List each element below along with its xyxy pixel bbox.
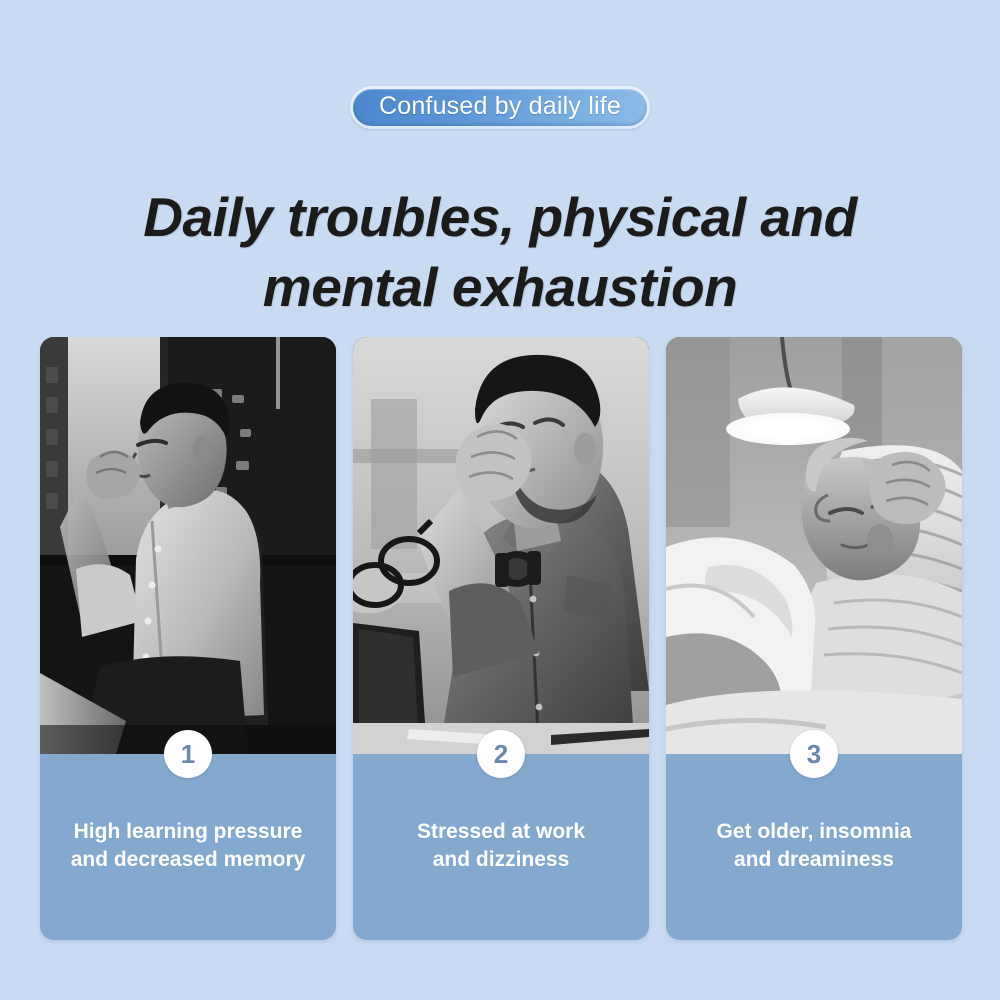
- card-2-caption-text: Stressed at work and dizziness: [353, 818, 649, 873]
- card-1-caption-text: High learning pressure and decreased mem…: [40, 818, 336, 873]
- tagline-badge-wrap: Confused by daily life: [0, 86, 1000, 129]
- card-2-caption-line-1: Stressed at work: [417, 820, 585, 843]
- card-1-caption-line-2: and decreased memory: [71, 848, 306, 871]
- page-title-line-2: mental exhaustion: [0, 252, 1000, 322]
- card-2-caption-line-2: and dizziness: [433, 848, 570, 871]
- cards-row: 1 High learning pressure and decreased m…: [40, 337, 962, 940]
- card-3-caption-line-2: and dreaminess: [734, 848, 894, 871]
- promo-infographic-page: { "page": { "background_color": "#c8dbf2…: [0, 0, 1000, 1000]
- page-title: Daily troubles, physical and mental exha…: [0, 182, 1000, 323]
- card-3-number-badge: 3: [790, 730, 838, 778]
- tagline-badge: Confused by daily life: [353, 89, 647, 126]
- card-2-number-badge: 2: [477, 730, 525, 778]
- card-1-photo: [40, 337, 336, 754]
- card-3-caption-panel: Get older, insomnia and dreaminess: [666, 754, 962, 940]
- card-3[interactable]: 3 Get older, insomnia and dreaminess: [666, 337, 962, 940]
- page-title-line-1: Daily troubles, physical and: [0, 182, 1000, 252]
- card-2-photo: [353, 337, 649, 754]
- older-man-insomnia-bed-image: [666, 337, 962, 754]
- card-1[interactable]: 1 High learning pressure and decreased m…: [40, 337, 336, 940]
- card-2[interactable]: 2 Stressed at work and dizziness: [353, 337, 649, 940]
- card-3-photo: [666, 337, 962, 754]
- man-rubbing-eyes-window-image: [40, 337, 336, 754]
- card-2-caption-panel: Stressed at work and dizziness: [353, 754, 649, 940]
- stressed-man-laptop-image: [353, 337, 649, 754]
- card-1-number-badge: 1: [164, 730, 212, 778]
- card-1-caption-line-1: High learning pressure: [74, 820, 303, 843]
- card-3-caption-line-1: Get older, insomnia: [717, 820, 912, 843]
- tagline-badge-label: Confused by daily life: [379, 92, 621, 120]
- card-1-caption-panel: High learning pressure and decreased mem…: [40, 754, 336, 940]
- tagline-badge-outer: Confused by daily life: [350, 86, 650, 129]
- card-3-caption-text: Get older, insomnia and dreaminess: [666, 818, 962, 873]
